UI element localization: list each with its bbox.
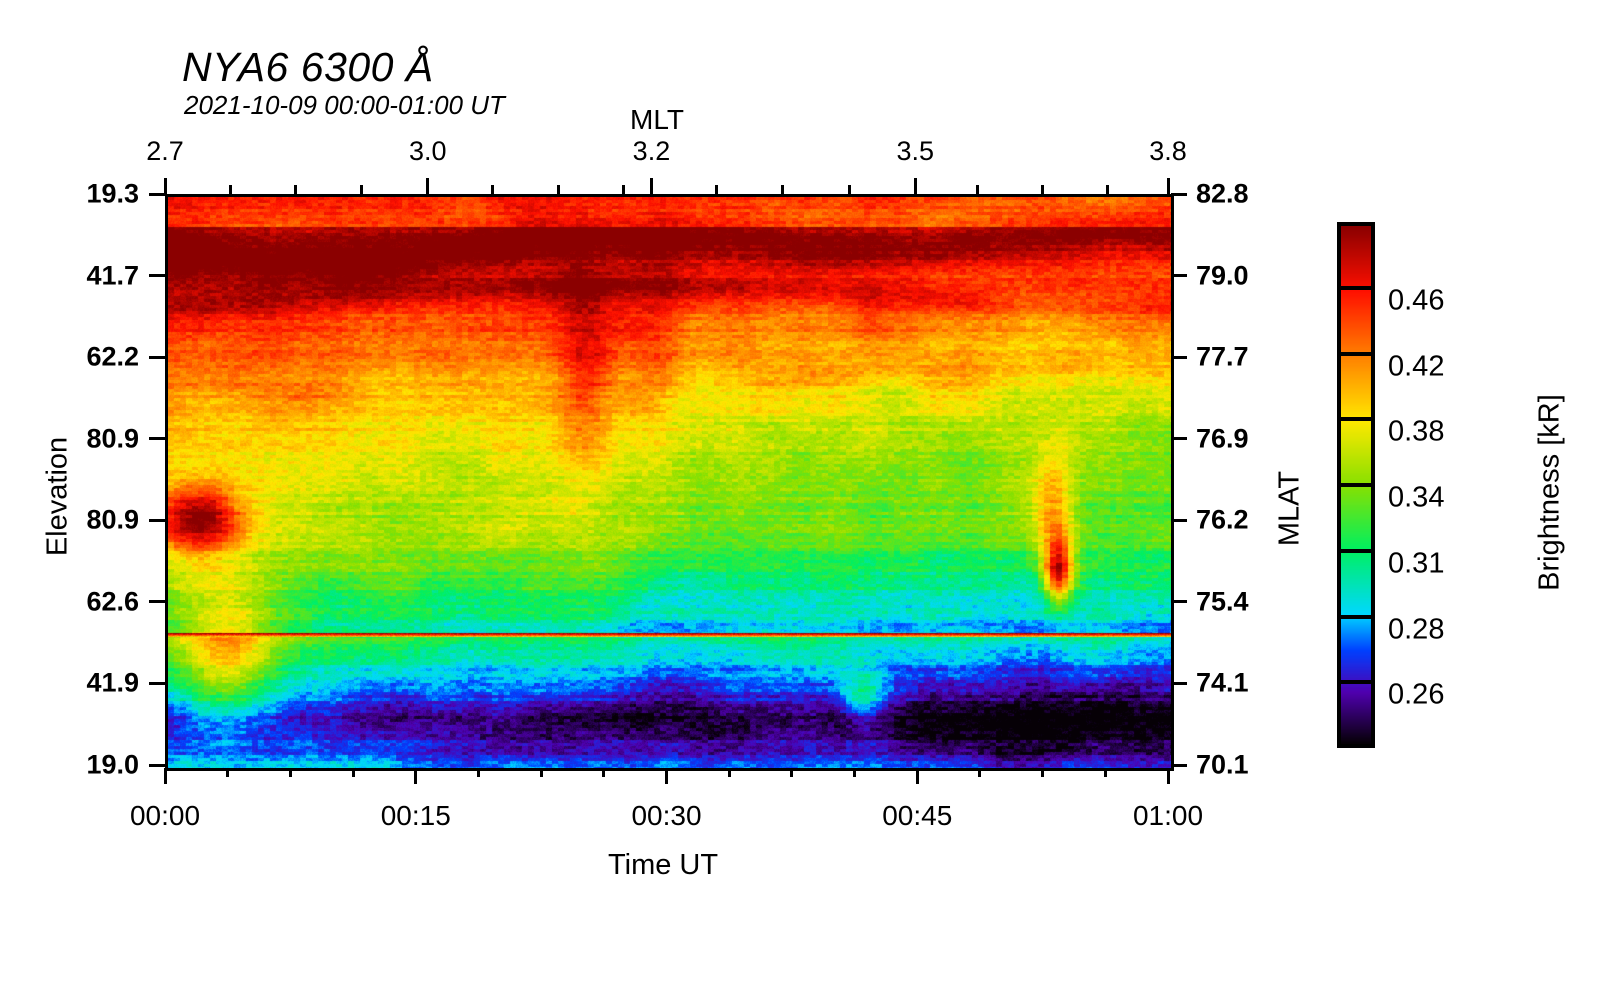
tick-label-time-0: 00:00 — [130, 800, 200, 832]
tick-mark-right-6 — [1171, 682, 1187, 685]
tick-mark-bottom-0 — [164, 768, 167, 784]
tick-label-mlat-4: 76.2 — [1196, 505, 1249, 536]
tick-mark-left-3 — [149, 437, 165, 440]
colorbar-label-brightness: Brightness [kR] — [1534, 333, 1567, 653]
tick-mark-right-4 — [1171, 519, 1187, 522]
colorbar-divider-3 — [1337, 483, 1375, 487]
tick-mark-left-7 — [149, 764, 165, 767]
tick-label-elevation-6: 41.9 — [86, 668, 139, 699]
tick-mark-bottom-minor-1 — [289, 768, 292, 777]
colorbar-divider-2 — [1337, 417, 1375, 421]
tick-label-elevation-3: 80.9 — [86, 423, 139, 454]
tick-label-mlt-1: 3.0 — [409, 136, 447, 167]
tick-mark-left-4 — [149, 519, 165, 522]
tick-mark-bottom-minor-10 — [1041, 768, 1044, 777]
tick-label-time-1: 00:15 — [381, 800, 451, 832]
tick-mark-top-minor-1 — [294, 185, 297, 194]
tick-mark-top-minor-9 — [976, 185, 979, 194]
tick-label-mlt-4: 3.8 — [1149, 136, 1187, 167]
tick-mark-top-minor-7 — [781, 185, 784, 194]
tick-label-mlat-3: 76.9 — [1196, 423, 1249, 454]
tick-label-mlt-3: 3.5 — [896, 136, 934, 167]
keogram-plot-area[interactable] — [165, 194, 1174, 771]
top-axis-label-mlt: MLT — [630, 104, 684, 136]
tick-mark-bottom-minor-4 — [540, 768, 543, 777]
tick-label-mlat-6: 74.1 — [1196, 668, 1249, 699]
colorbar-tick-label-4: 0.31 — [1388, 547, 1444, 580]
tick-mark-bottom-minor-0 — [226, 768, 229, 777]
bottom-axis-label-time: Time UT — [608, 849, 718, 882]
tick-mark-top-1 — [426, 178, 429, 194]
tick-mark-bottom-1 — [414, 768, 417, 784]
colorbar-tick-label-5: 0.28 — [1388, 613, 1444, 646]
page-title: NYA6 6300 Å — [182, 44, 434, 91]
tick-label-mlat-5: 75.4 — [1196, 586, 1249, 617]
tick-mark-top-minor-10 — [1041, 185, 1044, 194]
tick-label-mlat-2: 77.7 — [1196, 342, 1249, 373]
tick-mark-bottom-minor-11 — [1104, 768, 1107, 777]
colorbar-divider-6 — [1337, 680, 1375, 684]
tick-mark-bottom-3 — [916, 768, 919, 784]
tick-mark-left-1 — [149, 274, 165, 277]
tick-label-mlt-2: 3.2 — [633, 136, 671, 167]
right-axis-label-mlat: MLAT — [1274, 419, 1307, 599]
tick-mark-top-minor-4 — [557, 185, 560, 194]
left-axis-label-elevation: Elevation — [42, 407, 75, 587]
colorbar-divider-5 — [1337, 615, 1375, 619]
tick-mark-bottom-minor-9 — [978, 768, 981, 777]
tick-label-mlat-7: 70.1 — [1196, 750, 1249, 781]
tick-mark-right-7 — [1171, 764, 1187, 767]
tick-mark-right-2 — [1171, 356, 1187, 359]
colorbar-tick-label-1: 0.42 — [1388, 350, 1444, 383]
tick-label-time-2: 00:30 — [631, 800, 701, 832]
colorbar-tick-label-6: 0.26 — [1388, 679, 1444, 712]
tick-mark-top-minor-2 — [360, 185, 363, 194]
tick-mark-top-minor-0 — [229, 185, 232, 194]
tick-mark-top-3 — [914, 178, 917, 194]
tick-mark-top-0 — [164, 178, 167, 194]
colorbar-tick-label-0: 0.46 — [1388, 284, 1444, 317]
tick-mark-top-minor-3 — [491, 185, 494, 194]
tick-mark-left-5 — [149, 600, 165, 603]
keogram-image — [168, 197, 1171, 768]
tick-label-elevation-1: 41.7 — [86, 260, 139, 291]
tick-label-time-3: 00:45 — [882, 800, 952, 832]
tick-label-elevation-4: 80.9 — [86, 505, 139, 536]
tick-label-elevation-2: 62.2 — [86, 342, 139, 373]
colorbar-divider-4 — [1337, 549, 1375, 553]
tick-mark-bottom-4 — [1167, 768, 1170, 784]
tick-mark-bottom-minor-5 — [602, 768, 605, 777]
tick-mark-top-minor-5 — [622, 185, 625, 194]
tick-mark-top-2 — [650, 178, 653, 194]
tick-mark-bottom-minor-7 — [790, 768, 793, 777]
page-subtitle: 2021-10-09 00:00-01:00 UT — [184, 90, 505, 121]
tick-mark-top-minor-11 — [1106, 185, 1109, 194]
tick-mark-bottom-minor-3 — [477, 768, 480, 777]
tick-label-elevation-7: 19.0 — [86, 750, 139, 781]
tick-label-mlt-0: 2.7 — [146, 136, 184, 167]
tick-mark-right-5 — [1171, 600, 1187, 603]
tick-mark-bottom-minor-8 — [853, 768, 856, 777]
tick-mark-bottom-2 — [665, 768, 668, 784]
tick-label-elevation-0: 19.3 — [86, 179, 139, 210]
tick-mark-left-2 — [149, 356, 165, 359]
tick-mark-right-3 — [1171, 437, 1187, 440]
tick-label-time-4: 01:00 — [1133, 800, 1203, 832]
tick-mark-bottom-minor-2 — [352, 768, 355, 777]
tick-mark-right-1 — [1171, 274, 1187, 277]
tick-mark-right-0 — [1171, 193, 1187, 196]
colorbar-divider-0 — [1337, 286, 1375, 290]
tick-label-mlat-0: 82.8 — [1196, 179, 1249, 210]
tick-mark-top-minor-6 — [715, 185, 718, 194]
colorbar-tick-label-3: 0.34 — [1388, 482, 1444, 515]
tick-mark-top-minor-8 — [848, 185, 851, 194]
colorbar-tick-label-2: 0.38 — [1388, 416, 1444, 449]
tick-label-elevation-5: 62.6 — [86, 586, 139, 617]
tick-mark-bottom-minor-6 — [728, 768, 731, 777]
tick-mark-top-4 — [1167, 178, 1170, 194]
tick-label-mlat-1: 79.0 — [1196, 260, 1249, 291]
tick-mark-left-6 — [149, 682, 165, 685]
colorbar-divider-1 — [1337, 352, 1375, 356]
